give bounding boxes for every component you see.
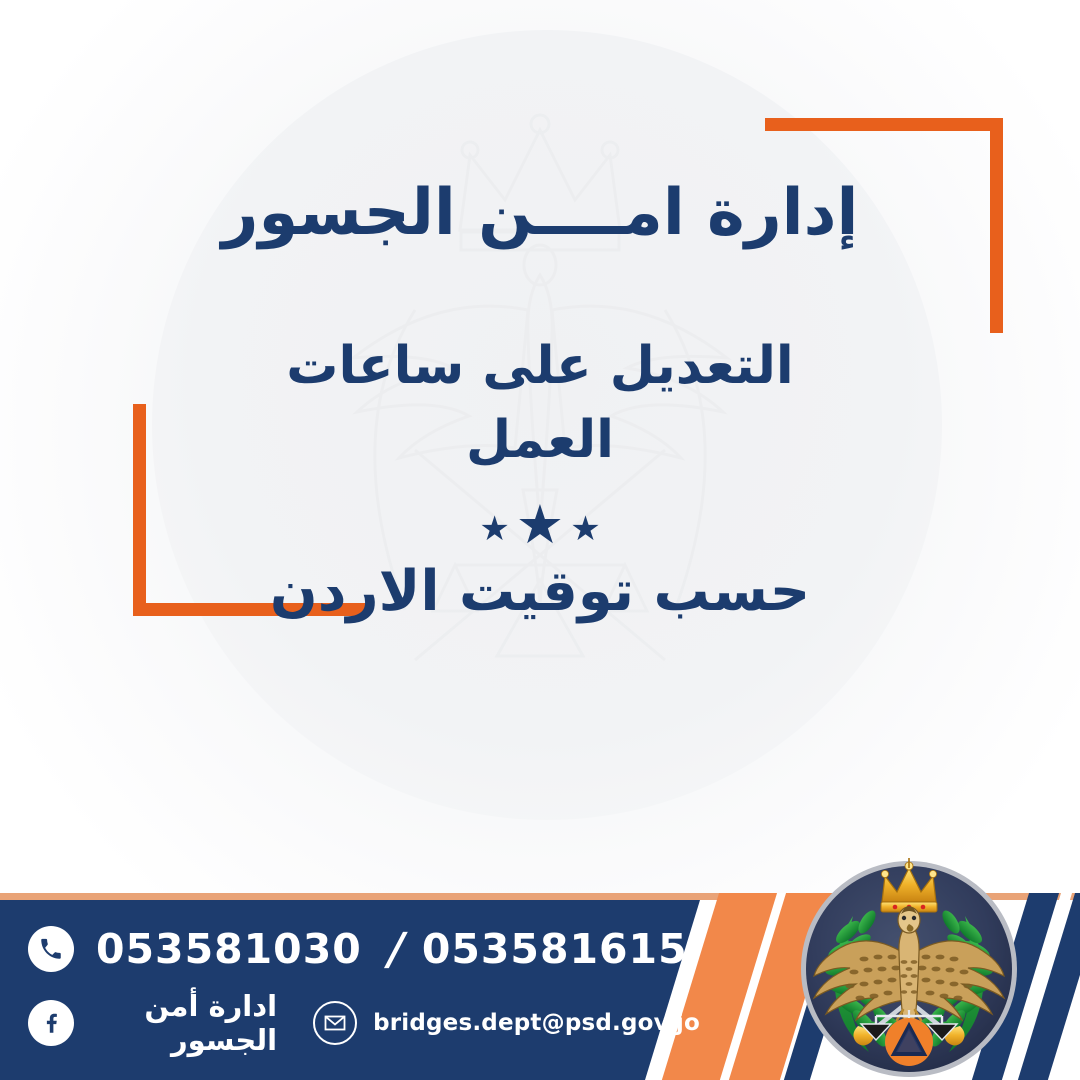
- announcement-headline: التعديل على ساعات العمل: [160, 330, 920, 478]
- footer-contacts: 053581030 / 053581615 ادارة أمن الجسور: [0, 900, 700, 1080]
- star-icon-center: ★: [516, 498, 564, 552]
- announcement-headline-line1: التعديل على ساعات: [160, 330, 920, 404]
- timezone-note: حسب توقيت الاردن: [270, 558, 810, 625]
- phone-icon: [28, 926, 74, 972]
- star-decoration: ★ ★ ★: [479, 502, 600, 556]
- phone-secondary[interactable]: 053581615: [422, 925, 688, 973]
- facebook-page-name[interactable]: ادارة أمن الجسور: [88, 989, 277, 1057]
- email-address[interactable]: bridges.dept@psd.gov.jo: [373, 1010, 700, 1036]
- star-icon-right: ★: [570, 512, 600, 546]
- psd-emblem-badge: [798, 858, 1020, 1080]
- social-email-row: ادارة أمن الجسور bridges.dept@psd.gov.jo: [28, 989, 700, 1057]
- poster-content: إدارة امــــن الجسور التعديل على ساعات ا…: [0, 0, 1080, 880]
- envelope-icon: [313, 1001, 357, 1045]
- organization-title: إدارة امــــن الجسور: [222, 178, 859, 248]
- facebook-icon[interactable]: [28, 1000, 74, 1046]
- phone-row: 053581030 / 053581615: [28, 924, 700, 975]
- poster-canvas: إدارة امــــن الجسور التعديل على ساعات ا…: [0, 0, 1080, 1080]
- star-icon-left: ★: [479, 512, 509, 546]
- phone-primary[interactable]: 053581030: [96, 925, 362, 973]
- phone-separator: /: [382, 924, 409, 975]
- announcement-headline-line2: العمل: [160, 404, 920, 478]
